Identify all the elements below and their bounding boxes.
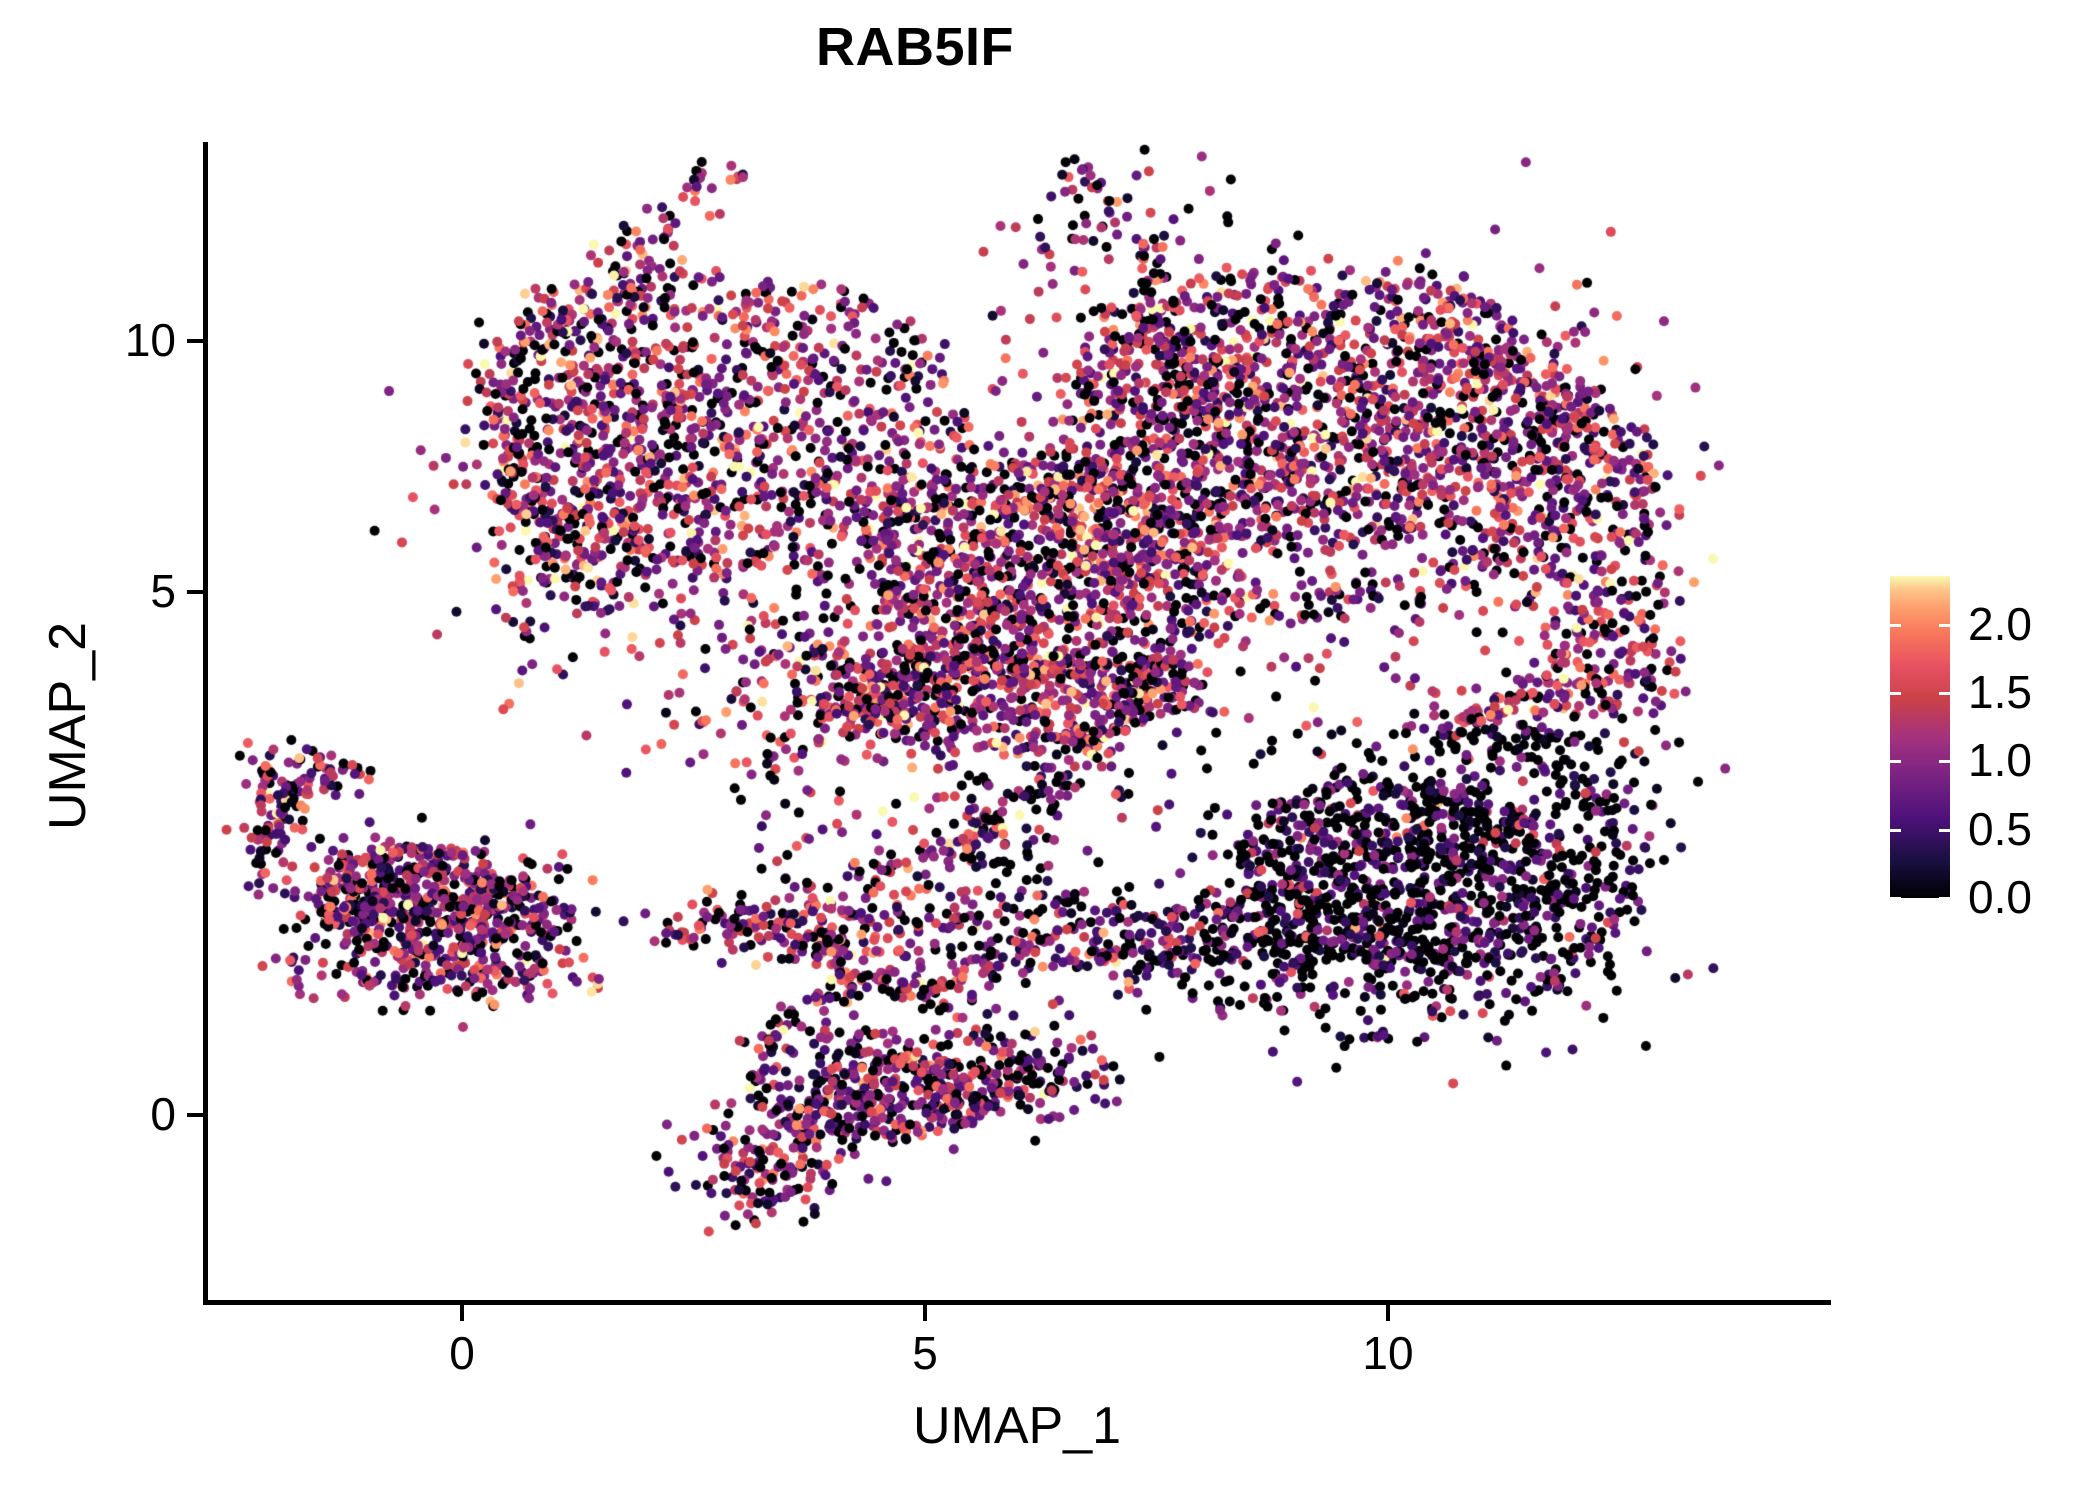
colorbar-tick-0-0 [1939, 897, 1950, 900]
y-tick-mark-5 [187, 590, 203, 594]
x-tick-label-5: 5 [825, 1330, 1025, 1376]
y-tick-mark-0 [187, 1113, 203, 1117]
colorbar-label-1-0: 1.0 [1968, 737, 2032, 783]
x-tick-mark-5 [923, 1305, 927, 1321]
colorbar-tick-2-0 [1939, 624, 1950, 627]
y-tick-mark-10 [187, 339, 203, 343]
x-tick-mark-0 [460, 1305, 464, 1321]
colorbar-tick-2-0 [1890, 624, 1901, 627]
colorbar-tick-1-0 [1939, 760, 1950, 763]
figure-root: RAB5IF 10 5 0 0 5 10 UMAP_1 UMAP_2 2.01.… [0, 0, 2100, 1500]
colorbar-tick-1-5 [1939, 692, 1950, 695]
x-tick-label-10: 10 [1288, 1330, 1488, 1376]
color-legend: 2.01.51.00.50.0 [1890, 576, 2090, 906]
y-axis-line [203, 142, 208, 1304]
scatter-plot-canvas [205, 142, 1831, 1302]
x-axis-line [203, 1300, 1831, 1305]
colorbar-tick-0-0 [1890, 897, 1901, 900]
colorbar-tick-1-0 [1890, 760, 1901, 763]
y-axis-title: UMAP_2 [42, 426, 94, 1026]
colorbar-tick-0-5 [1890, 829, 1901, 832]
page-title: RAB5IF [0, 20, 1830, 74]
x-tick-mark-10 [1386, 1305, 1390, 1321]
colorbar-label-1-5: 1.5 [1968, 669, 2032, 715]
colorbar-label-2-0: 2.0 [1968, 601, 2032, 647]
colorbar-label-0-5: 0.5 [1968, 806, 2032, 852]
x-tick-label-0: 0 [362, 1330, 562, 1376]
colorbar-tick-0-5 [1939, 829, 1950, 832]
colorbar-tick-1-5 [1890, 692, 1901, 695]
plot-panel [205, 142, 1831, 1302]
y-tick-label-10: 10 [0, 317, 176, 363]
x-axis-title: UMAP_1 [203, 1400, 1831, 1452]
colorbar-label-0-0: 0.0 [1968, 874, 2032, 920]
y-tick-label-0: 0 [0, 1091, 176, 1137]
